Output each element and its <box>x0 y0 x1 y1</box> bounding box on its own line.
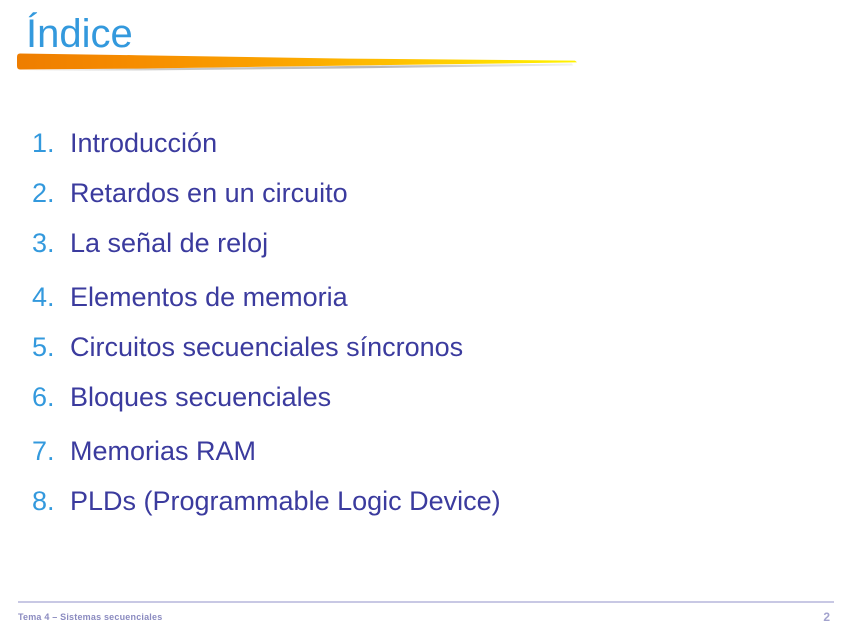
list-item-label: Bloques secuenciales <box>70 382 331 413</box>
list-item-number: 1. <box>32 128 70 159</box>
list-item[interactable]: 5. Circuitos secuenciales síncronos <box>0 332 848 382</box>
footer-divider <box>18 601 834 603</box>
list-item-number: 2. <box>32 178 70 209</box>
list-item-number: 8. <box>32 486 70 517</box>
list-item-label: Memorias RAM <box>70 436 256 467</box>
slide-title-block: Índice <box>0 0 848 90</box>
list-item-number: 3. <box>32 228 70 259</box>
list-item-number: 6. <box>32 382 70 413</box>
list-item[interactable]: 4. Elementos de memoria <box>0 282 848 332</box>
list-item-number: 5. <box>32 332 70 363</box>
list-item-label: Retardos en un circuito <box>70 178 348 209</box>
list-item-label: Elementos de memoria <box>70 282 348 313</box>
list-item[interactable]: 2. Retardos en un circuito <box>0 178 848 228</box>
list-item-number: 4. <box>32 282 70 313</box>
list-item-label: Introducción <box>70 128 217 159</box>
footer-label: Tema 4 – Sistemas secuenciales <box>18 612 162 622</box>
list-item-label: PLDs (Programmable Logic Device) <box>70 486 501 517</box>
list-item-label: La señal de reloj <box>70 228 268 259</box>
page-number: 2 <box>823 610 830 624</box>
presentation-slide: Índice <box>0 0 848 635</box>
list-item[interactable]: 6. Bloques secuenciales <box>0 382 848 432</box>
underline-shadow <box>22 64 573 72</box>
slide-footer: Tema 4 – Sistemas secuenciales 2 <box>0 595 848 635</box>
list-item-label: Circuitos secuenciales síncronos <box>70 332 463 363</box>
list-item[interactable]: 1. Introducción <box>0 128 848 178</box>
list-item[interactable]: 7. Memorias RAM <box>0 436 848 486</box>
list-item[interactable]: 8. PLDs (Programmable Logic Device) <box>0 486 848 536</box>
list-item[interactable]: 3. La señal de reloj <box>0 228 848 278</box>
table-of-contents-list: 1. Introducción 2. Retardos en un circui… <box>0 128 848 536</box>
list-item-number: 7. <box>32 436 70 467</box>
page-title: Índice <box>26 10 133 58</box>
